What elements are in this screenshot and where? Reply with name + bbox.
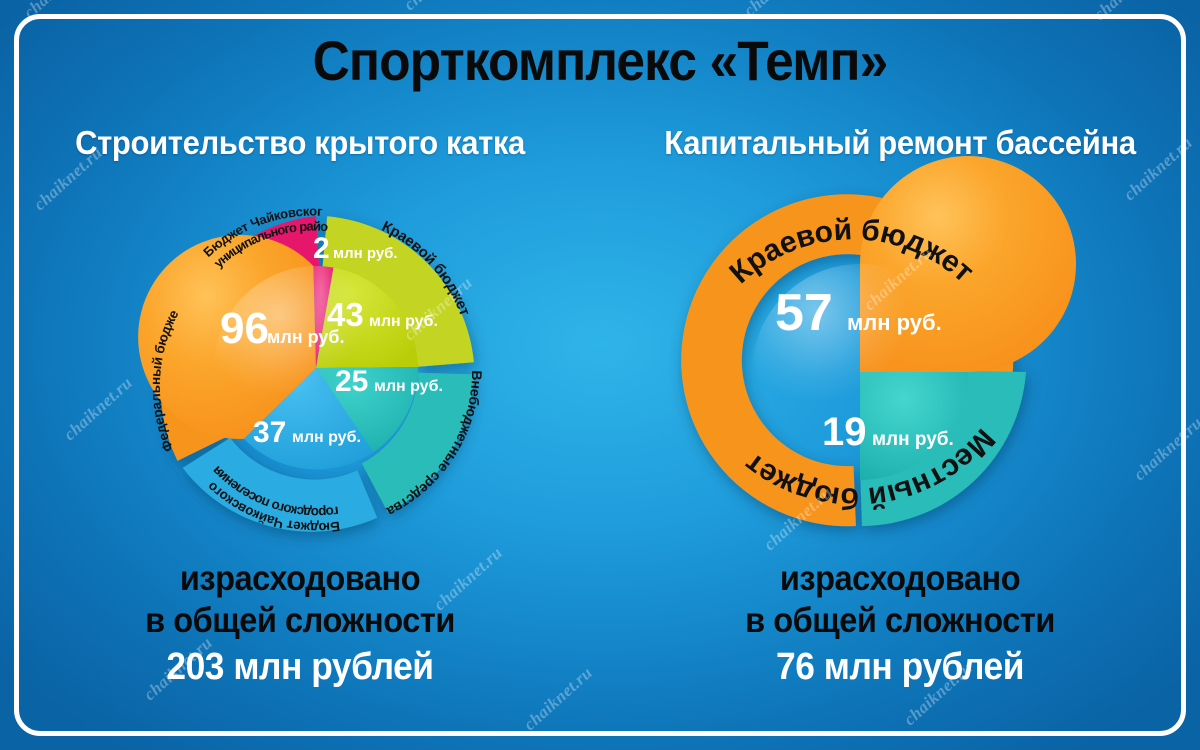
watermark: chaiknet.ru	[1130, 413, 1200, 485]
watermark: chaiknet.ru	[20, 0, 97, 23]
right-panel-subtitle: Капитальный ремонт бассейна	[637, 124, 1163, 162]
left-pie-chart: Федеральный бюджет Бюджет Чайковского му…	[120, 178, 520, 568]
value-district: 2	[313, 232, 330, 265]
right-pie-chart: Краевой бюджет Местный бюджет 57 млн руб…	[650, 185, 1070, 560]
value-regional: 43	[327, 296, 364, 333]
left-summary-line2: в общей сложности	[58, 600, 542, 642]
unit-city: млн руб.	[292, 429, 361, 446]
left-summary: израсходовано в общей сложности 203 млн …	[40, 558, 560, 690]
value-regional-right: 57	[775, 284, 833, 342]
page-title: Спорткомплекс «Темп»	[48, 32, 1152, 90]
unit-regional: млн руб.	[369, 313, 438, 330]
value-local-right: 19	[822, 410, 867, 454]
watermark: chaiknet.ru	[400, 0, 477, 15]
unit-local-right: млн руб.	[872, 429, 954, 450]
left-panel-subtitle: Строительство крытого катка	[37, 124, 563, 162]
right-summary-line2: в общей сложности	[658, 600, 1142, 642]
watermark: chaiknet.ru	[740, 0, 817, 21]
value-extra: 25	[335, 365, 368, 398]
right-summary-total: 76 млн рублей	[658, 644, 1142, 690]
unit-district: млн руб.	[333, 245, 398, 262]
infographic-canvas: chaiknet.ru chaiknet.ru chaiknet.ru chai…	[0, 0, 1200, 750]
value-city: 37	[253, 416, 286, 449]
unit-extra: млн руб.	[374, 378, 443, 395]
watermark: chaiknet.ru	[1090, 0, 1167, 25]
left-summary-total: 203 млн рублей	[58, 644, 542, 690]
right-summary-line1: израсходовано	[658, 558, 1142, 600]
right-summary: израсходовано в общей сложности 76 млн р…	[640, 558, 1160, 690]
value-federal: 96	[220, 304, 269, 353]
unit-regional-right: млн руб.	[847, 310, 942, 335]
